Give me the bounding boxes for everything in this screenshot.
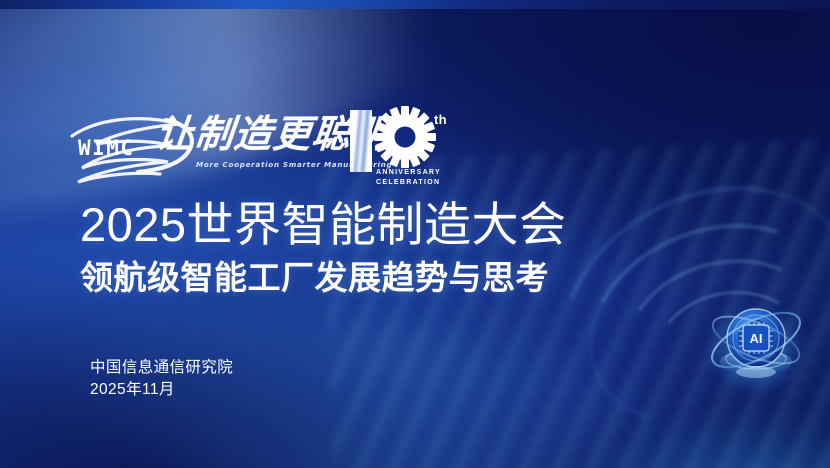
anniversary-caption-line1: ANNIVERSARY xyxy=(376,169,441,176)
anniversary-ordinal-suffix: th xyxy=(434,112,447,127)
ai-sphere-graphic: AI xyxy=(704,288,808,392)
footer-organization: 中国信息通信研究院 xyxy=(90,357,233,379)
anniversary-numeral-one xyxy=(350,110,372,172)
slide-main-title: 2025世界智能制造大会 xyxy=(80,200,567,249)
anniversary-caption-line2: CELEBRATION xyxy=(376,179,440,186)
slide-footer: 中国信息通信研究院 2025年11月 xyxy=(90,357,233,402)
presentation-slide: WIMC 让制造更聪明 More Cooperation Smarter Man… xyxy=(0,0,830,468)
footer-date: 2025年11月 xyxy=(90,379,233,401)
top-accent-strip xyxy=(0,0,830,9)
wimc-logo-lockup: WIMC 让制造更聪明 More Cooperation Smarter Man… xyxy=(68,108,338,188)
wimc-wordmark: WIMC xyxy=(78,138,135,159)
ai-chip-label: AI xyxy=(750,331,763,346)
anniversary-emblem: th ANNIVERSARYCELEBRATION xyxy=(348,106,458,190)
slide-subtitle: 领航级智能工厂发展趋势与思考 xyxy=(80,258,549,298)
gear-icon xyxy=(374,106,436,168)
anniversary-caption: ANNIVERSARYCELEBRATION xyxy=(376,168,441,188)
